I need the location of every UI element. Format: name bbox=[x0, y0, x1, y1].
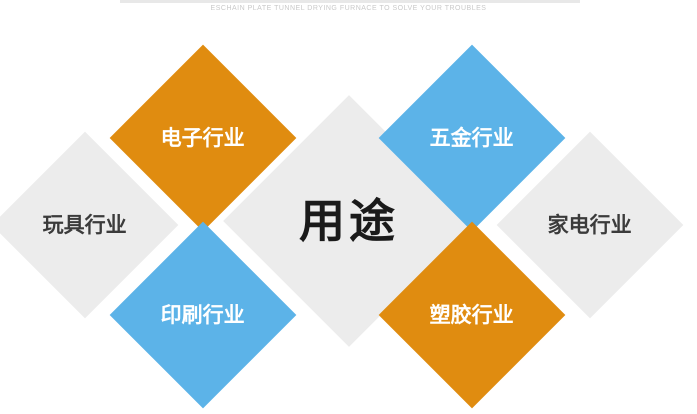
diamond-hardware-label: 五金行业 bbox=[430, 128, 514, 149]
header-divider bbox=[120, 0, 580, 3]
diagram-canvas: ESCHAIN PLATE TUNNEL DRYING FURNACE TO S… bbox=[0, 0, 697, 414]
diamond-toys-label: 玩具行业 bbox=[43, 215, 127, 236]
diamond-appliances-label: 家电行业 bbox=[548, 215, 632, 236]
diamond-printing-label: 印刷行业 bbox=[161, 305, 245, 326]
header-caption: ESCHAIN PLATE TUNNEL DRYING FURNACE TO S… bbox=[0, 5, 697, 12]
diamond-plastics-label: 塑胶行业 bbox=[430, 305, 514, 326]
diamond-center-label: 用途 bbox=[299, 198, 399, 244]
header-banner: ESCHAIN PLATE TUNNEL DRYING FURNACE TO S… bbox=[0, 0, 697, 20]
diamond-electronics-label: 电子行业 bbox=[161, 128, 245, 149]
